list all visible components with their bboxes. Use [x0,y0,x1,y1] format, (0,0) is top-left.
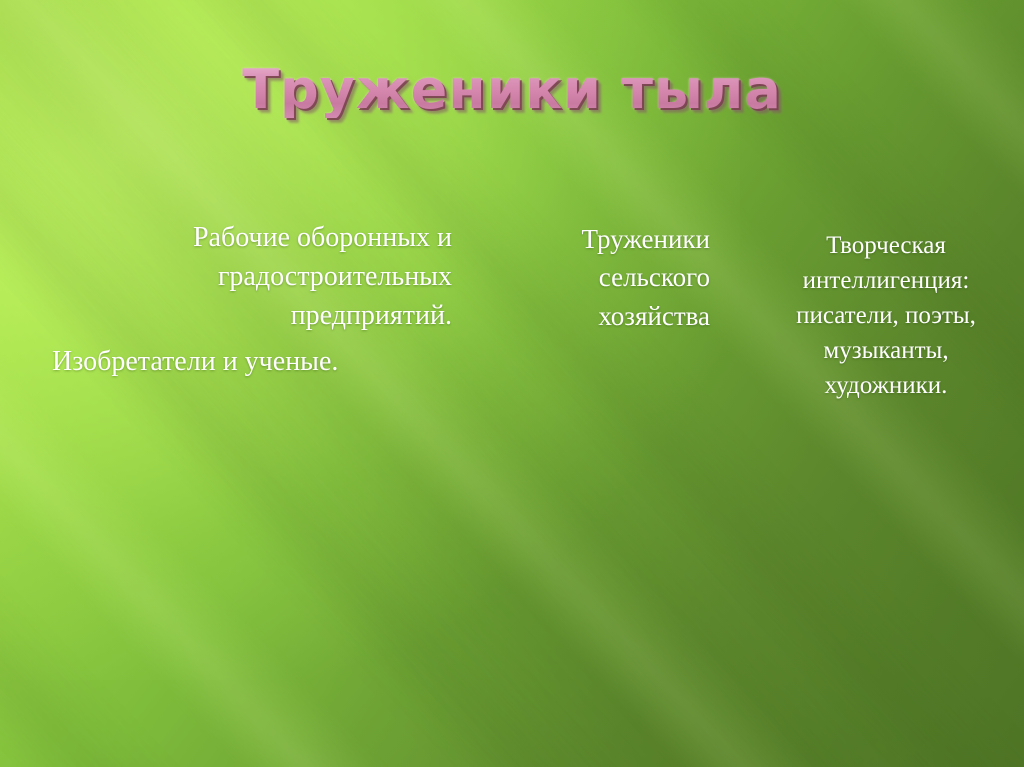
column-workers-block-b: Изобретатели и ученые. [52,342,452,381]
column-workers: Рабочие оборонных и градостроительных пр… [52,218,452,381]
column-intelligentsia: Творческая интеллигенция: писатели, поэт… [760,228,1012,403]
column-agriculture-line-3: хозяйства [498,297,710,335]
column-intelligentsia-line-1: Творческая [760,228,1012,263]
column-intelligentsia-line-4: музыканты, [760,333,1012,368]
column-workers-line-3: предприятий. [52,296,452,335]
column-agriculture: Труженики сельского хозяйства [498,220,710,335]
slide-title: Труженики тыла [242,62,782,118]
column-workers-line-1: Рабочие оборонных и [52,218,452,257]
presentation-slide: Труженики тыла Рабочие оборонных и градо… [0,0,1024,767]
column-agriculture-line-2: сельского [498,258,710,296]
content-columns: Рабочие оборонных и градостроительных пр… [0,218,1024,448]
column-intelligentsia-line-2: интеллигенция: [760,263,1012,298]
column-agriculture-line-1: Труженики [498,220,710,258]
column-intelligentsia-line-3: писатели, поэты, [760,298,1012,333]
column-intelligentsia-line-5: художники. [760,368,1012,403]
column-workers-block-a: Рабочие оборонных и градостроительных пр… [52,218,452,336]
slide-title-container: Труженики тыла [0,62,1024,118]
column-workers-line-4: Изобретатели и ученые. [52,342,452,381]
column-workers-line-2: градостроительных [52,257,452,296]
